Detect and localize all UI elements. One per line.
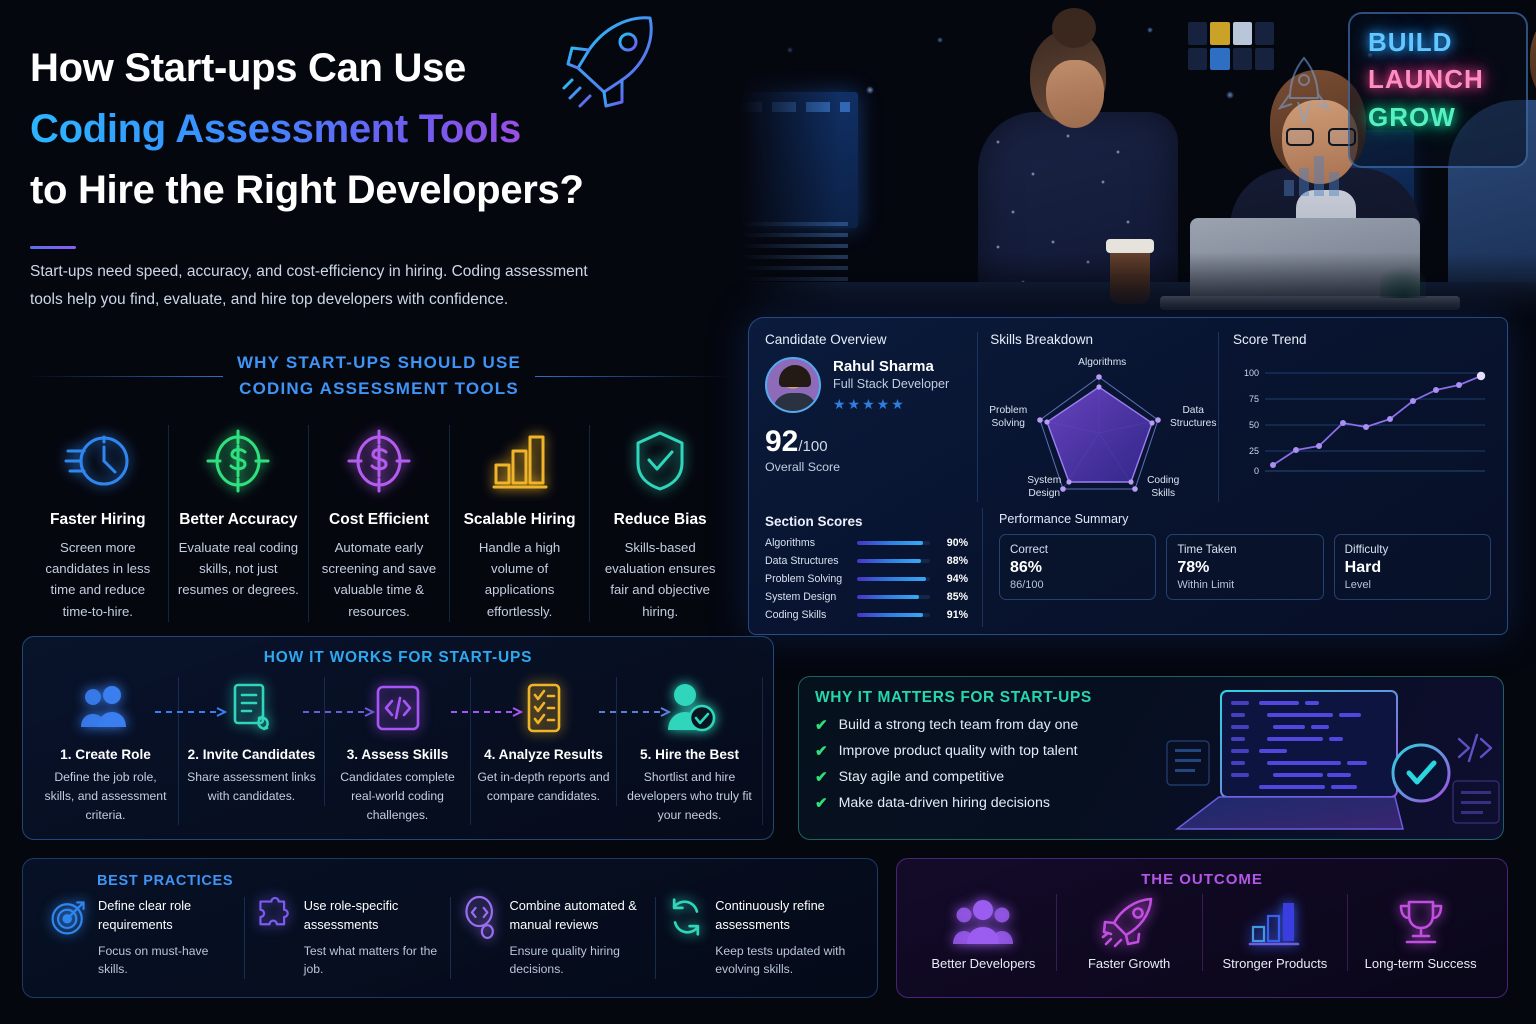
best-practices-title: BEST PRACTICES [97, 873, 861, 889]
how-step[interactable]: 5. Hire the Best Shortlist and hire deve… [617, 677, 763, 825]
why-use-card[interactable]: Cost Efficient Automate early screening … [309, 425, 450, 623]
best-practice-head: Continuously refine assessments [715, 897, 851, 934]
overall-score-value: 92 [765, 425, 798, 458]
performance-card-value: 78% [1177, 559, 1312, 577]
why-matters-item-label: Make data-driven hiring decisions [839, 795, 1050, 811]
performance-card-sub: Within Limit [1177, 579, 1312, 591]
why-use-card[interactable]: Better Accuracy Evaluate real coding ski… [169, 425, 310, 623]
star-rating: ★★★★★ [833, 396, 949, 413]
how-step-desc: Share assessment links with candidates. [185, 768, 318, 806]
skills-breakdown-column: Skills Breakdown [978, 332, 1219, 502]
glasses-icon [1286, 128, 1356, 146]
best-practice-desc: Test what matters for the job. [304, 942, 440, 979]
radar-label-algorithms: Algorithms [1062, 357, 1142, 370]
how-step-desc: Define the job role, skills, and assessm… [39, 768, 172, 825]
rocket-icon [1063, 894, 1196, 950]
candidate-overview-heading: Candidate Overview [765, 332, 963, 347]
section-score-pct: 94% [938, 573, 968, 585]
why-it-matters-title: WHY IT MATTERS FOR START-UPS [815, 689, 1487, 707]
radar-label-coding-skills: Coding Skills [1138, 475, 1188, 501]
puzzle-icon [255, 897, 295, 937]
rule-left [28, 376, 223, 377]
how-it-works-section: HOW IT WORKS FOR START-UPS 1. Create Rol… [22, 636, 774, 840]
performance-card-label: Time Taken [1177, 543, 1312, 556]
why-use-card-title: Reduce Bias [599, 511, 721, 529]
candidate-dashboard-panel: Candidate Overview Rahul Sharma Full Sta… [748, 317, 1508, 635]
why-use-card-title: Cost Efficient [318, 511, 440, 529]
why-matters-item: ✔ Build a strong tech team from day one [815, 716, 1487, 734]
performance-card-label: Correct [1010, 543, 1145, 556]
wall-rocket-icon [1278, 54, 1330, 128]
why-use-card-desc: Screen more candidates in less time and … [37, 537, 159, 623]
hero-photo: BUILD LAUNCH GROW [730, 0, 1536, 322]
section-score-name: Problem Solving [765, 573, 849, 585]
how-step-title: 3. Assess Skills [331, 747, 464, 762]
section-score-row: Coding Skills 91% [765, 609, 968, 621]
dollar-target-icon [178, 425, 300, 497]
flow-arrow-icon [599, 707, 677, 717]
title-divider [30, 246, 76, 249]
radar-label-system-design: System Design [1018, 475, 1070, 501]
performance-card: Time Taken 78% Within Limit [1166, 534, 1323, 600]
why-use-card-list: Faster Hiring Screen more candidates in … [28, 425, 730, 623]
outcome-item-label: Long-term Success [1354, 956, 1487, 971]
radar-label-problem-solving: Problem Solving [980, 405, 1036, 431]
how-step-title: 5. Hire the Best [623, 747, 756, 762]
dollar-target-icon [318, 425, 440, 497]
why-use-title-line2: CODING ASSESSMENT TOOLS [237, 376, 521, 402]
svg-text:75: 75 [1249, 394, 1259, 404]
how-step-desc: Shortlist and hire developers who truly … [623, 768, 756, 825]
overall-score-block: 92/100 Overall Score [765, 425, 963, 474]
best-practice-item[interactable]: Combine automated & manual reviews Ensur… [451, 897, 657, 979]
code-review-icon [461, 897, 501, 937]
why-matters-item-label: Stay agile and competitive [839, 769, 1005, 785]
check-icon: ✔ [815, 794, 828, 812]
flow-arrow-icon [451, 707, 529, 717]
how-step-title: 1. Create Role [39, 747, 172, 762]
outcome-item[interactable]: Better Developers [911, 894, 1057, 971]
bar-chart-icon [1209, 894, 1342, 950]
trophy-icon [1354, 894, 1487, 950]
why-matters-item-label: Build a strong tech team from day one [839, 717, 1079, 733]
overall-score-label: Overall Score [765, 460, 963, 474]
candidate-role: Full Stack Developer [833, 377, 949, 391]
performance-summary-block: Performance Summary Correct 86% 86/100 T… [983, 508, 1491, 627]
section-score-name: Coding Skills [765, 609, 849, 621]
hero-fade-bottom [730, 252, 1536, 322]
section-score-pct: 91% [938, 609, 968, 621]
line-chart: 10075 50250 [1233, 357, 1491, 487]
why-use-card-desc: Skills-based evaluation ensures fair and… [599, 537, 721, 623]
neon-sign: BUILD LAUNCH GROW [1348, 12, 1528, 168]
section-score-pct: 90% [938, 537, 968, 549]
section-score-pct: 88% [938, 555, 968, 567]
how-step[interactable]: 4. Analyze Results Get in-depth reports … [471, 677, 617, 806]
performance-card-sub: Level [1345, 579, 1480, 591]
section-score-name: System Design [765, 591, 849, 603]
why-matters-item-label: Improve product quality with top talent [839, 743, 1078, 759]
refresh-cycle-icon [666, 897, 706, 937]
section-score-row: Algorithms 90% [765, 537, 968, 549]
rocket-icon [556, 10, 666, 110]
flow-arrow-icon [155, 707, 233, 717]
outcome-item-label: Faster Growth [1063, 956, 1196, 971]
performance-summary-heading: Performance Summary [999, 512, 1491, 526]
person-woman-bun [1052, 8, 1096, 48]
section-score-row: Problem Solving 94% [765, 573, 968, 585]
best-practice-desc: Keep tests updated with evolving skills. [715, 942, 851, 979]
team-group-icon [917, 894, 1050, 950]
why-matters-item: ✔ Improve product quality with top talen… [815, 742, 1487, 760]
section-scores-heading: Section Scores [765, 514, 968, 529]
how-step-desc: Get in-depth reports and compare candida… [477, 768, 610, 806]
skills-breakdown-heading: Skills Breakdown [990, 332, 1206, 347]
how-step-title: 2. Invite Candidates [185, 747, 318, 762]
how-step-title: 4. Analyze Results [477, 747, 610, 762]
why-matters-item: ✔ Stay agile and competitive [815, 768, 1487, 786]
outcome-item[interactable]: Stronger Products [1203, 894, 1349, 971]
candidate-overview-column: Candidate Overview Rahul Sharma Full Sta… [765, 332, 978, 502]
why-use-title-line1: WHY START-UPS SHOULD USE [237, 350, 521, 376]
radar-chart: Algorithms Data Structures Coding Skills… [990, 357, 1206, 503]
why-use-card[interactable]: Faster Hiring Screen more candidates in … [28, 425, 169, 623]
check-icon: ✔ [815, 716, 828, 734]
neon-line-launch: LAUNCH [1368, 61, 1526, 98]
outcome-item[interactable]: Faster Growth [1057, 894, 1203, 971]
check-icon: ✔ [815, 742, 828, 760]
how-step[interactable]: 3. Assess Skills Candidates complete rea… [325, 677, 471, 825]
section-score-row: System Design 85% [765, 591, 968, 603]
why-matters-item: ✔ Make data-driven hiring decisions [815, 794, 1487, 812]
why-use-card-title: Faster Hiring [37, 511, 159, 529]
wall-squares-decor [1188, 22, 1274, 70]
why-use-card-desc: Automate early screening and save valuab… [318, 537, 440, 623]
best-practice-head: Combine automated & manual reviews [510, 897, 646, 934]
clock-speed-icon [37, 425, 159, 497]
avatar [765, 357, 821, 413]
why-use-card-title: Scalable Hiring [459, 511, 581, 529]
why-use-card[interactable]: Reduce Bias Skills-based evaluation ensu… [590, 425, 730, 623]
outcome-item-label: Stronger Products [1209, 956, 1342, 971]
performance-card-value: 86% [1010, 559, 1145, 577]
why-use-section: WHY START-UPS SHOULD USE CODING ASSESSME… [28, 350, 730, 622]
outcome-title: THE OUTCOME [911, 871, 1493, 888]
best-practice-head: Use role-specific assessments [304, 897, 440, 934]
outcome-item-label: Better Developers [917, 956, 1050, 971]
section-score-name: Data Structures [765, 555, 849, 567]
how-step[interactable]: 1. Create Role Define the job role, skil… [33, 677, 179, 825]
check-icon: ✔ [815, 768, 828, 786]
svg-text:0: 0 [1254, 466, 1259, 476]
person-woman-face [1046, 60, 1104, 128]
users-icon [39, 677, 172, 739]
neon-line-build: BUILD [1368, 24, 1526, 61]
why-use-card-desc: Evaluate real coding skills, not just re… [178, 537, 300, 601]
wall-bars-decor [1284, 148, 1344, 196]
how-step[interactable]: 2. Invite Candidates Share assessment li… [179, 677, 325, 806]
why-use-card-desc: Handle a high volume of applications eff… [459, 537, 581, 623]
best-practices-section: BEST PRACTICES Define clear role require… [22, 858, 878, 998]
neon-line-grow: GROW [1368, 99, 1526, 136]
why-it-matters-section: WHY IT MATTERS FOR START-UPS ✔ Build a s… [798, 676, 1504, 840]
why-use-card-title: Better Accuracy [178, 511, 300, 529]
svg-text:25: 25 [1249, 446, 1259, 456]
score-trend-heading: Score Trend [1233, 332, 1491, 347]
section-score-row: Data Structures 88% [765, 555, 968, 567]
how-step-desc: Candidates complete real-world coding ch… [331, 768, 464, 825]
why-use-card[interactable]: Scalable Hiring Handle a high volume of … [450, 425, 591, 623]
page-subtitle: Start-ups need speed, accuracy, and cost… [30, 258, 590, 313]
performance-card: Correct 86% 86/100 [999, 534, 1156, 600]
performance-card-sub: 86/100 [1010, 579, 1145, 591]
shield-check-icon [599, 425, 721, 497]
svg-text:100: 100 [1244, 368, 1259, 378]
best-practice-item[interactable]: Continuously refine assessments Keep tes… [656, 897, 861, 979]
svg-text:50: 50 [1249, 420, 1259, 430]
flow-arrow-icon [303, 707, 381, 717]
section-score-name: Algorithms [765, 537, 849, 549]
title-line-3: to Hire the Right Developers? [30, 160, 730, 221]
candidate-name: Rahul Sharma [833, 358, 949, 375]
outcome-section: THE OUTCOME Better Developers [896, 858, 1508, 998]
rule-right [535, 376, 730, 377]
overall-score-max: /100 [798, 438, 827, 455]
section-score-pct: 85% [938, 591, 968, 603]
performance-card: Difficulty Hard Level [1334, 534, 1491, 600]
score-trend-column: Score Trend 10075 50250 [1219, 332, 1491, 502]
target-arrow-icon [49, 897, 89, 937]
how-it-works-title: HOW IT WORKS FOR START-UPS [33, 649, 763, 667]
outcome-item[interactable]: Long-term Success [1348, 894, 1493, 971]
section-scores-block: Section Scores Algorithms 90% Data Struc… [765, 508, 983, 627]
radar-label-data-structures: Data Structures [1166, 405, 1220, 431]
best-practice-item[interactable]: Define clear role requirements Focus on … [39, 897, 245, 979]
best-practice-desc: Ensure quality hiring decisions. [510, 942, 646, 979]
performance-card-value: Hard [1345, 559, 1480, 577]
best-practice-item[interactable]: Use role-specific assessments Test what … [245, 897, 451, 979]
infographic-root: BUILD LAUNCH GROW How Start-ups Can Use … [0, 0, 1536, 1024]
performance-card-label: Difficulty [1345, 543, 1480, 556]
best-practice-head: Define clear role requirements [98, 897, 234, 934]
bar-chart-icon [459, 425, 581, 497]
best-practice-desc: Focus on must-have skills. [98, 942, 234, 979]
